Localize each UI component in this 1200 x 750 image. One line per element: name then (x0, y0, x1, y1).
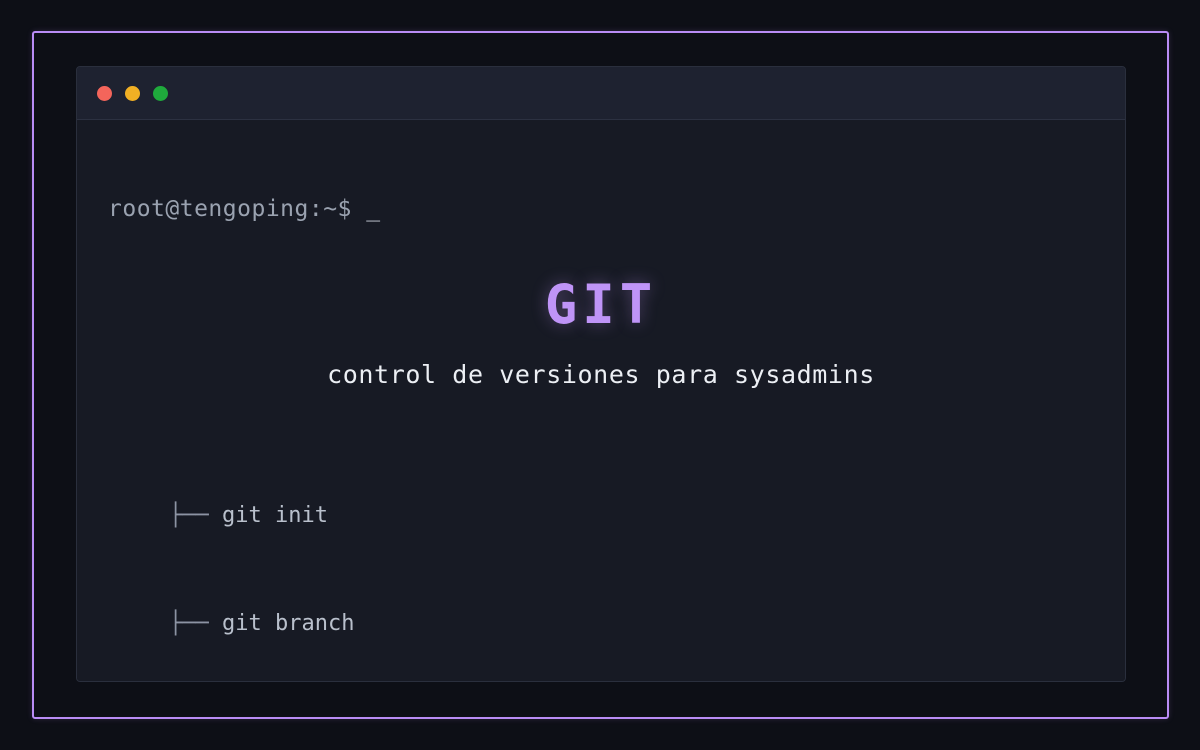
banner-subtitle: control de versiones para sysadmins (77, 362, 1125, 387)
terminal-titlebar[interactable] (77, 67, 1125, 120)
command-tree: ├── git init ├── git branch └── git merg… (169, 426, 354, 682)
banner: GIT control de versiones para sysadmins (77, 278, 1125, 387)
tree-item-label: git init (222, 503, 328, 528)
shell-prompt: root@tengoping:~$ (108, 196, 352, 222)
tree-item-label: git branch (222, 611, 354, 636)
shell-prompt-line: root@tengoping:~$ _ (108, 198, 381, 221)
list-item[interactable]: ├── git init (169, 498, 354, 534)
terminal-window: root@tengoping:~$ _ GIT control de versi… (76, 66, 1126, 682)
cursor-caret: _ (352, 196, 381, 222)
tree-branch-icon: ├── (169, 503, 222, 528)
list-item[interactable]: ├── git branch (169, 606, 354, 642)
terminal-body[interactable]: root@tengoping:~$ _ GIT control de versi… (77, 120, 1125, 681)
tree-branch-icon: ├── (169, 611, 222, 636)
close-dot-icon[interactable] (97, 86, 112, 101)
minimize-dot-icon[interactable] (125, 86, 140, 101)
maximize-dot-icon[interactable] (153, 86, 168, 101)
banner-title: GIT (77, 278, 1125, 332)
